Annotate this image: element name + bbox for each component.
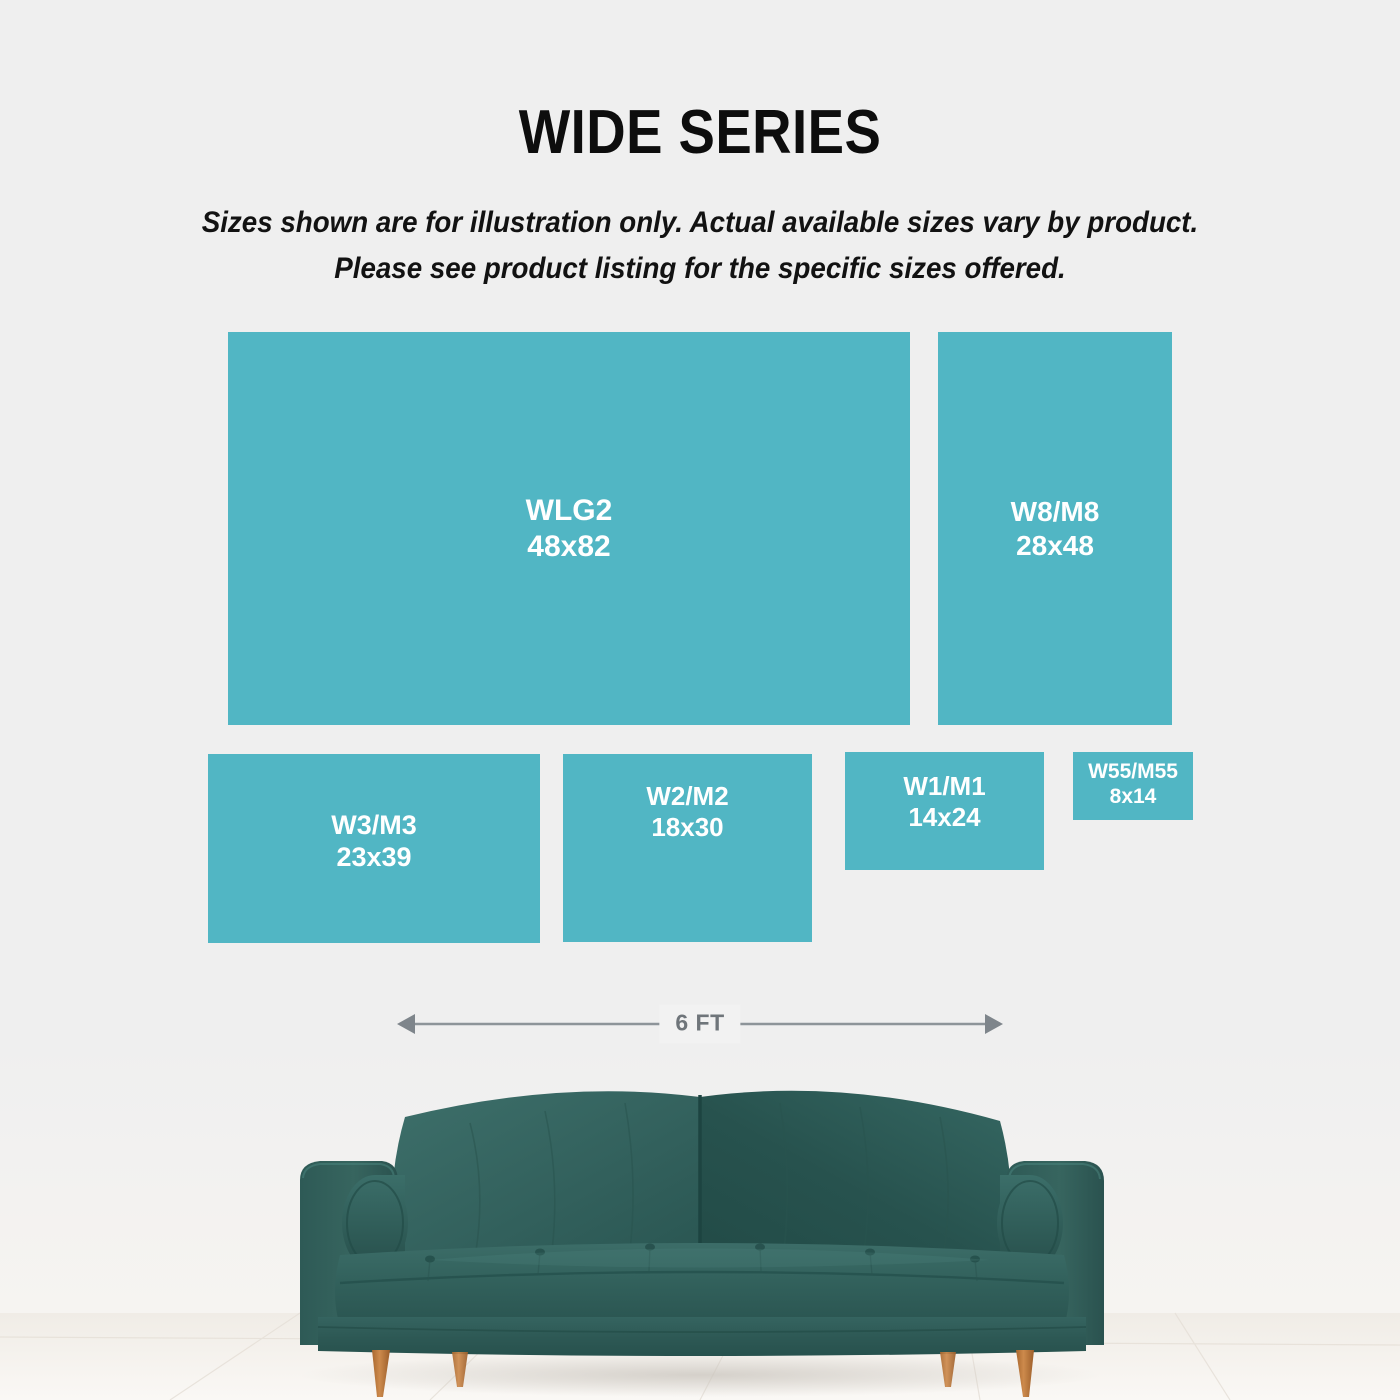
size-swatch-w2-m2[interactable]: W2/M2 18x30 (563, 754, 812, 942)
measure-label: 6 FT (659, 1005, 740, 1044)
size-swatch-w1-m1[interactable]: W1/M1 14x24 (845, 752, 1044, 870)
size-swatch-w55-m55[interactable]: W55/M55 8x14 (1073, 752, 1193, 820)
size-dimensions: 8x14 (1110, 785, 1157, 810)
size-swatch-w3-m3[interactable]: W3/M3 23x39 (208, 754, 540, 943)
disclaimer-line-1: Sizes shown are for illustration only. A… (202, 206, 1199, 239)
size-dimensions: 23x39 (336, 842, 411, 874)
size-code: W2/M2 (646, 781, 728, 812)
green-velvet-sofa-illustration (0, 1045, 1400, 1400)
disclaimer-text: Sizes shown are for illustration only. A… (42, 200, 1358, 292)
size-code: W8/M8 (1011, 495, 1100, 528)
size-code: W3/M3 (331, 810, 417, 842)
sofa-scene (0, 1045, 1400, 1400)
size-swatch-w8-m8[interactable]: W8/M8 28x48 (938, 332, 1172, 725)
size-dimensions: 14x24 (908, 802, 980, 833)
size-dimensions: 18x30 (651, 812, 723, 843)
size-code: W55/M55 (1088, 760, 1178, 785)
size-chart-infographic: WIDE SERIES Sizes shown are for illustra… (0, 0, 1400, 1400)
page-title: WIDE SERIES (84, 97, 1316, 168)
scale-measure: 6 FT (395, 1003, 1005, 1045)
size-dimensions: 28x48 (1016, 529, 1094, 562)
size-code: W1/M1 (903, 771, 985, 802)
size-code: WLG2 (526, 493, 613, 528)
size-swatch-wlg2[interactable]: WLG2 48x82 (228, 332, 910, 725)
size-dimensions: 48x82 (527, 529, 610, 564)
disclaimer-line-2: Please see product listing for the speci… (334, 252, 1065, 285)
